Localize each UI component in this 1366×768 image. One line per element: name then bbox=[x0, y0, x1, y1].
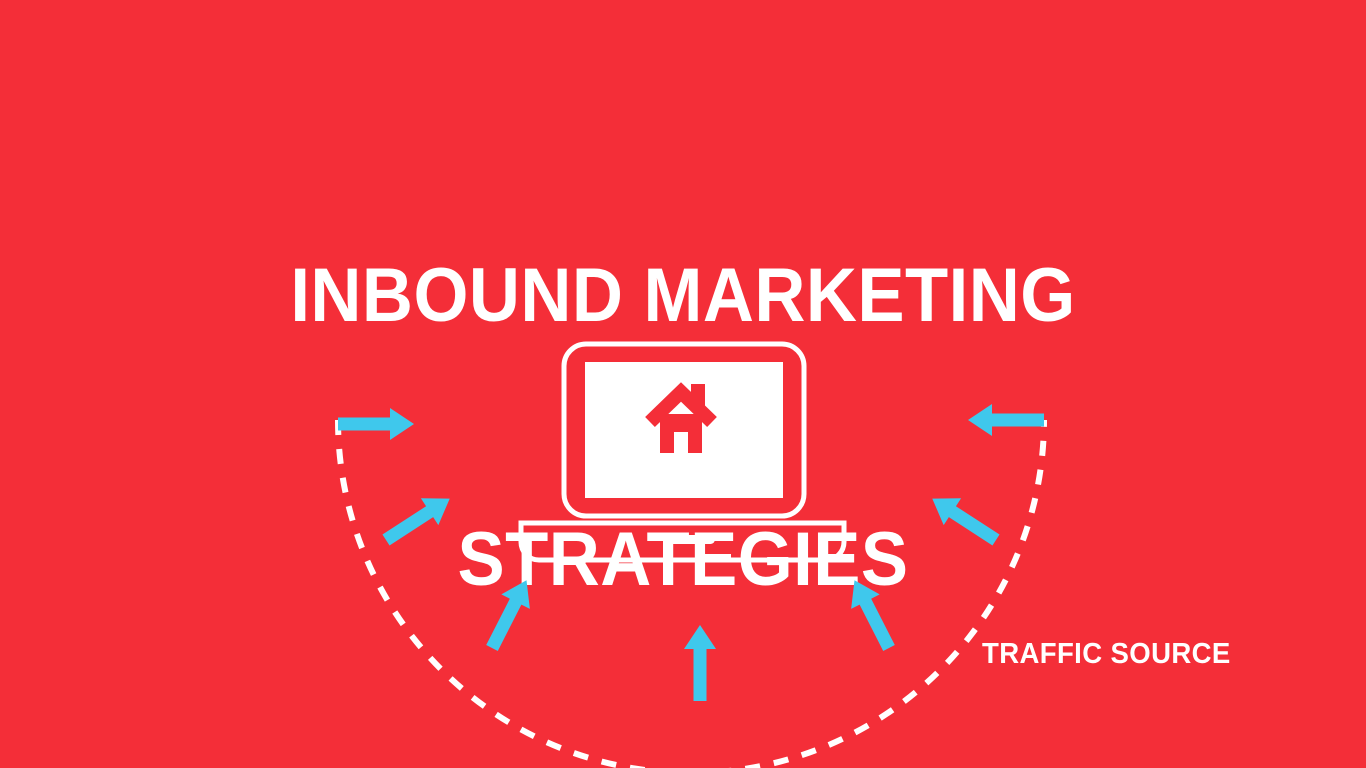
arrow-top-right bbox=[968, 404, 1044, 436]
traffic-source-label: TRAFFIC SOURCE bbox=[982, 638, 1231, 671]
arrow-lower-left bbox=[478, 573, 541, 655]
slide-canvas: INBOUND MARKETING STRATEGIES bbox=[0, 0, 1366, 768]
laptop-icon bbox=[521, 344, 844, 560]
arrow-upper-right bbox=[924, 485, 1005, 553]
arrow-top-left bbox=[338, 408, 414, 440]
laptop-trackpad bbox=[667, 535, 715, 544]
arrow-bottom-center bbox=[684, 625, 716, 701]
arrow-lower-right bbox=[840, 573, 903, 655]
arrow-upper-left bbox=[377, 485, 458, 553]
